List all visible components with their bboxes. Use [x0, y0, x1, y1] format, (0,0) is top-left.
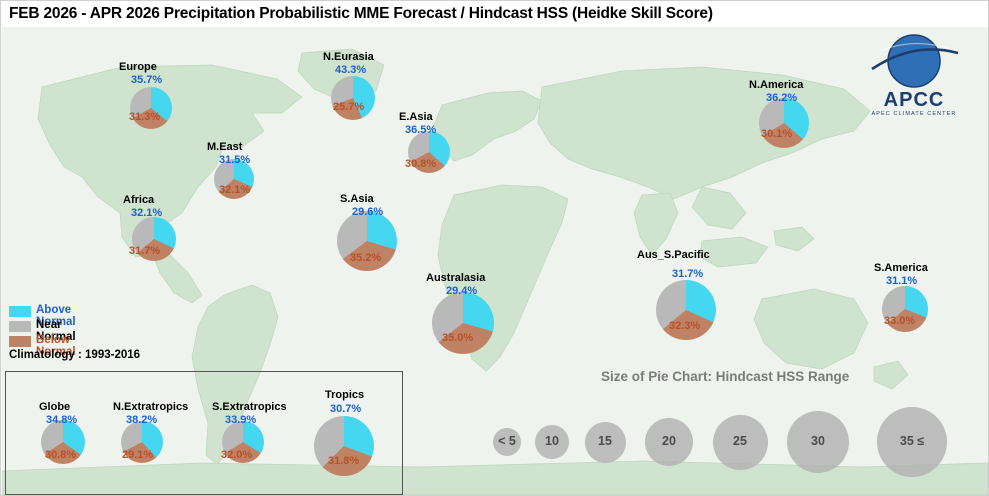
region-name: S.America	[874, 262, 928, 274]
page-title: FEB 2026 - APR 2026 Precipitation Probab…	[9, 5, 713, 23]
below-normal-value: 31.8%	[328, 455, 359, 467]
above-normal-value: 36.2%	[766, 92, 797, 104]
below-normal-value: 31.3%	[129, 111, 160, 123]
region-name: Australasia	[426, 272, 485, 284]
below-normal-value: 32.3%	[669, 320, 700, 332]
above-normal-value: 35.7%	[131, 74, 162, 86]
region-name: N.Extratropics	[113, 401, 188, 413]
legend-swatch-below	[9, 336, 31, 347]
climatology-note: Climatology : 1993-2016	[9, 349, 140, 361]
above-normal-value: 33.9%	[225, 414, 256, 426]
size-scale-label: 10	[526, 434, 578, 448]
region-name: S.Extratropics	[212, 401, 287, 413]
region-name: Africa	[123, 194, 154, 206]
region-name: N.Eurasia	[323, 51, 374, 63]
pie-chart	[759, 98, 809, 148]
size-scale-label: 20	[643, 434, 695, 448]
below-normal-value: 32.1%	[219, 184, 250, 196]
above-normal-value: 30.7%	[330, 403, 361, 415]
above-normal-value: 29.6%	[352, 206, 383, 218]
below-normal-value: 29.1%	[122, 449, 153, 461]
pie-chart	[331, 76, 375, 120]
above-normal-value: 38.2%	[126, 414, 157, 426]
above-normal-value: 31.1%	[886, 275, 917, 287]
above-normal-value: 29.4%	[446, 285, 477, 297]
logo-name: APCC	[854, 89, 974, 112]
region-name: Aus_S.Pacific	[637, 249, 710, 261]
above-normal-value: 34.8%	[46, 414, 77, 426]
below-normal-value: 35.2%	[350, 252, 381, 264]
region-name: M.East	[207, 141, 242, 153]
size-scale-label: 15	[579, 434, 631, 448]
below-normal-value: 30.8%	[405, 158, 436, 170]
below-normal-value: 25.7%	[333, 101, 364, 113]
above-normal-value: 36.5%	[405, 124, 436, 136]
size-scale-label: 30	[792, 434, 844, 448]
pie-chart	[314, 416, 374, 476]
below-normal-value: 30.8%	[45, 449, 76, 461]
below-normal-value: 30.1%	[761, 128, 792, 140]
below-normal-value: 33.0%	[884, 315, 915, 327]
above-normal-value: 31.5%	[219, 154, 250, 166]
region-name: E.Asia	[399, 111, 433, 123]
region-name: Tropics	[325, 389, 364, 401]
logo-subtitle: APEC CLIMATE CENTER	[854, 111, 974, 117]
below-normal-value: 35.0%	[442, 332, 473, 344]
legend-swatch-near	[9, 321, 31, 332]
above-normal-value: 43.3%	[335, 64, 366, 76]
legend-swatch-above	[9, 306, 31, 317]
apcc-logo: APCC APEC CLIMATE CENTER	[854, 33, 974, 125]
pie-chart	[432, 292, 494, 354]
figure-root: FEB 2026 - APR 2026 Precipitation Probab…	[0, 0, 989, 496]
below-normal-value: 32.0%	[221, 449, 252, 461]
region-name: N.America	[749, 79, 803, 91]
above-normal-value: 32.1%	[131, 207, 162, 219]
size-scale-title: Size of Pie Chart: Hindcast HSS Range	[601, 369, 849, 384]
below-normal-value: 31.7%	[129, 245, 160, 257]
region-name: Europe	[119, 61, 157, 73]
region-name: S.Asia	[340, 193, 374, 205]
above-normal-value: 31.7%	[672, 268, 703, 280]
size-scale-label: 35 ≤	[886, 434, 938, 448]
region-name: Globe	[39, 401, 70, 413]
size-scale-label: 25	[714, 434, 766, 448]
